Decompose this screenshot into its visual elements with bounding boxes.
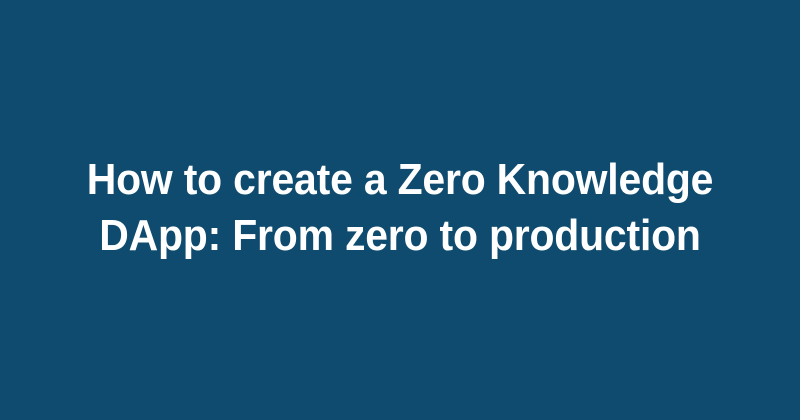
hero-title-card: How to create a Zero Knowledge DApp: Fro… bbox=[0, 0, 800, 420]
title-line-1: How to create a Zero Knowledge bbox=[47, 152, 754, 208]
title-line-2: DApp: From zero to production bbox=[47, 208, 754, 264]
page-title: How to create a Zero Knowledge DApp: Fro… bbox=[20, 152, 780, 264]
